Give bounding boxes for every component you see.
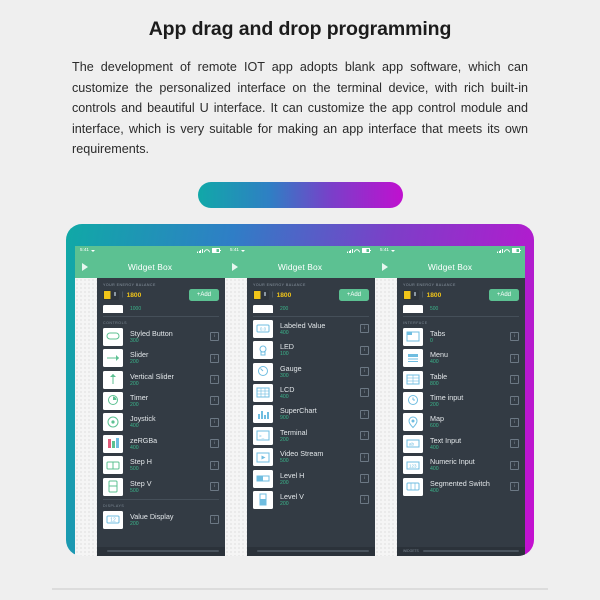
footer-divider: [52, 588, 548, 590]
widget-item-price: 200: [130, 521, 210, 528]
status-time: 5:41: [230, 248, 239, 253]
app-bar: Widget Box: [225, 256, 375, 278]
widget-list-item[interactable]: Level V200i: [253, 491, 369, 509]
widget-thumbnail: [103, 478, 123, 496]
widget-list-item[interactable]: SuperChart900i: [253, 405, 369, 423]
widget-info-icon[interactable]: i: [510, 354, 519, 363]
status-bar-left: 5:41: [80, 248, 95, 253]
energy-separator: |: [122, 292, 124, 298]
widget-list-partial-row[interactable]: 1000: [103, 305, 219, 313]
widget-item-name: Level H: [280, 471, 360, 480]
page-root: App drag and drop programming The develo…: [0, 0, 600, 600]
app-bar-title: Widget Box: [225, 262, 375, 272]
widget-list[interactable]: 500INTERFACETabs0iMenu400iTable800iTime …: [397, 305, 525, 556]
widget-list-item[interactable]: Tabs0i: [403, 328, 519, 346]
widget-thumbnail: [103, 349, 123, 367]
widget-thumbnail: 12: [103, 511, 123, 529]
widget-item-price: 300: [280, 373, 360, 380]
widget-thumb: [253, 305, 273, 313]
widget-info-icon[interactable]: i: [360, 453, 369, 462]
status-bar: 5:41: [75, 246, 225, 256]
widget-thumbnail: [103, 456, 123, 474]
energy-separator: |: [422, 292, 424, 298]
widget-item-text: Timer200: [130, 393, 210, 409]
widget-item-price: 200: [430, 402, 510, 409]
widget-item-text: Numeric Input400: [430, 457, 510, 473]
widget-item-name: SuperChart: [280, 406, 360, 415]
bottom-bar-track[interactable]: [423, 550, 519, 551]
widget-item-price: 100: [280, 351, 360, 358]
widget-list-item[interactable]: zeRGBa400i: [103, 435, 219, 453]
widget-item-name: Step H: [130, 457, 210, 466]
widget-box-panel: YOUR ENERGY BALANCE|1800+Add1000CONTROLS…: [97, 278, 225, 556]
widget-item-price: 200: [280, 480, 360, 487]
widget-thumbnail: [403, 328, 423, 346]
widget-list-item[interactable]: Timer200i: [103, 392, 219, 410]
widget-info-icon[interactable]: i: [360, 431, 369, 440]
widget-thumbnail: [103, 435, 123, 453]
widget-list-item[interactable]: Map600i: [403, 413, 519, 431]
widget-thumbnail: [403, 413, 423, 431]
app-bar-title: Widget Box: [375, 262, 525, 272]
widget-thumbnail: [253, 341, 273, 359]
list-divider: [103, 316, 219, 317]
add-energy-button[interactable]: +Add: [339, 289, 369, 301]
widget-box-bottom-bar: [247, 547, 375, 556]
status-bar-left: 5:41: [380, 248, 395, 253]
phone-screenshot-1: 5:41Widget BoxYOUR ENERGY BALANCE|1800+A…: [75, 246, 225, 556]
widget-list-item[interactable]: 123Numeric Input400i: [403, 456, 519, 474]
widget-item-name: Slider: [130, 350, 210, 359]
widget-item-name: Vertical Slider: [130, 372, 210, 381]
widget-thumbnail: [403, 392, 423, 410]
wifi-icon: [504, 249, 509, 253]
content-column: App drag and drop programming The develo…: [52, 0, 548, 588]
widget-thumbnail: 0.0: [253, 320, 273, 338]
widget-item-price: 800: [430, 381, 510, 388]
list-divider: [403, 316, 519, 317]
widget-thumb: [403, 305, 423, 313]
widget-item-name: Text Input: [430, 436, 510, 445]
phone-body: YOUR ENERGY BALANCE|1800+Add2000.0Labele…: [225, 278, 375, 556]
widget-item-name: Tabs: [430, 329, 510, 338]
widget-info-icon[interactable]: i: [210, 439, 219, 448]
widget-list-item[interactable]: Video Stream500i: [253, 448, 369, 466]
widget-item-name: Time input: [430, 393, 510, 402]
widget-item-price: 500: [130, 488, 210, 495]
widget-item-text: Level H200: [280, 471, 360, 487]
widget-item-text: zeRGBa400: [130, 436, 210, 452]
widget-item-text: Step V500: [130, 479, 210, 495]
energy-balance-row: |1800+Add: [253, 289, 369, 301]
widget-item-price: 400: [430, 359, 510, 366]
widget-info-icon[interactable]: i: [360, 474, 369, 483]
widget-item-text: Level V200: [280, 492, 360, 508]
widget-list-item[interactable]: 0.0Labeled Value400i: [253, 320, 369, 338]
widget-list-item[interactable]: Table800i: [403, 371, 519, 389]
widget-item-text: Segmented Switch400: [430, 479, 510, 495]
widget-item-name: Segmented Switch: [430, 479, 510, 488]
widget-item-price: 400: [430, 445, 510, 452]
widget-list-item[interactable]: Menu400i: [403, 349, 519, 367]
gradient-divider-pill: [198, 182, 403, 208]
wifi-icon: [354, 249, 359, 253]
widget-box-bottom-bar: [97, 547, 225, 556]
svg-text:>_: >_: [259, 434, 265, 439]
battery-icon: [512, 248, 521, 254]
widget-list-item[interactable]: Segmented Switch400i: [403, 478, 519, 496]
widget-thumbnail: [403, 349, 423, 367]
widget-info-icon[interactable]: i: [360, 324, 369, 333]
widget-list-item[interactable]: Step H500i: [103, 456, 219, 474]
phone-screenshot-3: 5:41Widget BoxYOUR ENERGY BALANCE|1800+A…: [375, 246, 525, 556]
widget-item-name: Terminal: [280, 428, 360, 437]
widget-list[interactable]: 1000CONTROLSStyled Button300iSlider200iV…: [97, 305, 225, 556]
widget-info-icon[interactable]: i: [360, 495, 369, 504]
widget-item-name: Gauge: [280, 364, 360, 373]
widget-list-item[interactable]: Styled Button300i: [103, 328, 219, 346]
widget-list-item[interactable]: Vertical Slider200i: [103, 371, 219, 389]
widget-item-text: Vertical Slider200: [130, 372, 210, 388]
widget-item-price: 200: [280, 501, 360, 508]
widget-item-text: Labeled Value400: [280, 321, 360, 337]
app-bar: Widget Box: [75, 256, 225, 278]
widget-item-price: 400: [280, 394, 360, 401]
widget-info-icon[interactable]: i: [360, 367, 369, 376]
widget-info-icon[interactable]: i: [210, 375, 219, 384]
widget-thumbnail: [103, 392, 123, 410]
widget-item-price: 500: [130, 466, 210, 473]
widget-list-partial-row[interactable]: 500: [403, 305, 519, 313]
widget-item-name: Table: [430, 372, 510, 381]
widget-item-price: 0: [430, 338, 510, 345]
widget-item-name: Numeric Input: [430, 457, 510, 466]
widget-thumbnail: >_: [253, 427, 273, 445]
widget-thumbnail: [103, 328, 123, 346]
play-icon[interactable]: [82, 263, 88, 271]
widget-item-price: 200: [130, 381, 210, 388]
widget-item-name: Labeled Value: [280, 321, 360, 330]
svg-text:12: 12: [110, 518, 116, 524]
widget-thumbnail: [103, 371, 123, 389]
widget-section-label: CONTROLS: [103, 321, 219, 325]
status-bar-left: 5:41: [230, 248, 245, 253]
widget-info-icon[interactable]: i: [510, 396, 519, 405]
widget-list-item[interactable]: Time input200i: [403, 392, 519, 410]
widget-item-name: LCD: [280, 385, 360, 394]
status-bar: 5:41: [225, 246, 375, 256]
widget-section-label: INTERFACE: [403, 321, 519, 325]
widget-list-partial-row[interactable]: 200: [253, 305, 369, 313]
widget-box-panel: YOUR ENERGY BALANCE|1800+Add500INTERFACE…: [397, 278, 525, 556]
widget-item-text: Table800: [430, 372, 510, 388]
widget-item-text: LED100: [280, 342, 360, 358]
widget-box-panel: YOUR ENERGY BALANCE|1800+Add2000.0Labele…: [247, 278, 375, 556]
svg-text:123: 123: [409, 463, 417, 468]
widget-item-text: SuperChart900: [280, 406, 360, 422]
energy-battery-icon: [253, 290, 269, 300]
widget-item-name: zeRGBa: [130, 436, 210, 445]
status-bar-right: [197, 248, 220, 254]
phone-body: YOUR ENERGY BALANCE|1800+Add1000CONTROLS…: [75, 278, 225, 556]
signal-icon: [347, 249, 352, 253]
energy-balance-value: 1800: [277, 292, 292, 299]
add-energy-button[interactable]: +Add: [189, 289, 219, 301]
page-title: App drag and drop programming: [52, 0, 548, 41]
status-bar-right: [497, 248, 520, 254]
widget-item-name: Joystick: [130, 414, 210, 423]
widget-list-item[interactable]: abText Input400i: [403, 435, 519, 453]
widget-item-name: Video Stream: [280, 449, 360, 458]
widget-item-text: Time input200: [430, 393, 510, 409]
widget-item-name: Menu: [430, 350, 510, 359]
widget-item-price: 400: [130, 445, 210, 452]
widget-item-price: 900: [280, 415, 360, 422]
widget-item-price: 400: [430, 488, 510, 495]
dropdown-caret-icon: [241, 250, 245, 252]
widget-item-name: Step V: [130, 479, 210, 488]
widget-price: 500: [430, 306, 438, 312]
widget-info-icon[interactable]: i: [510, 461, 519, 470]
widget-price: 1000: [130, 306, 141, 312]
widget-info-icon[interactable]: i: [210, 515, 219, 524]
widget-list-item[interactable]: Joystick400i: [103, 413, 219, 431]
widget-thumbnail: [403, 371, 423, 389]
status-bar-right: [347, 248, 370, 254]
widget-info-icon[interactable]: i: [510, 375, 519, 384]
widget-list-item[interactable]: LCD400i: [253, 384, 369, 402]
widget-thumbnail: [253, 470, 273, 488]
widget-item-price: 500: [280, 458, 360, 465]
widget-item-price: 300: [130, 338, 210, 345]
widget-list-item[interactable]: Level H200i: [253, 470, 369, 488]
widget-info-icon[interactable]: i: [360, 346, 369, 355]
status-bar: 5:41: [375, 246, 525, 256]
widget-item-price: 400: [430, 466, 510, 473]
widget-item-name: Value Display: [130, 512, 210, 521]
energy-battery-icon: [403, 290, 419, 300]
widget-info-icon[interactable]: i: [510, 482, 519, 491]
widget-item-text: Map600: [430, 414, 510, 430]
widget-list-item[interactable]: >_Terminal200i: [253, 427, 369, 445]
showcase-panel: 5:41Widget BoxYOUR ENERGY BALANCE|1800+A…: [66, 224, 534, 556]
status-time: 5:41: [80, 248, 89, 253]
phone-body: YOUR ENERGY BALANCE|1800+Add500INTERFACE…: [375, 278, 525, 556]
energy-balance-row: |1800+Add: [103, 289, 219, 301]
bottom-bar-track[interactable]: [257, 550, 369, 551]
widget-thumbnail: [253, 405, 273, 423]
wifi-icon: [204, 249, 209, 253]
energy-balance-value: 1800: [127, 292, 142, 299]
play-icon[interactable]: [382, 263, 388, 271]
widget-item-text: Slider200: [130, 350, 210, 366]
widget-list-item[interactable]: LED100i: [253, 341, 369, 359]
widget-thumbnail: [253, 384, 273, 402]
widget-item-text: Value Display200: [130, 512, 210, 528]
widget-info-icon[interactable]: i: [210, 418, 219, 427]
widget-info-icon[interactable]: i: [210, 332, 219, 341]
widget-item-text: Text Input400: [430, 436, 510, 452]
widget-list-item[interactable]: Gauge300i: [253, 363, 369, 381]
widget-thumbnail: [103, 413, 123, 431]
battery-icon: [212, 248, 221, 254]
widget-item-text: Video Stream500: [280, 449, 360, 465]
energy-balance: YOUR ENERGY BALANCE|1800+Add: [247, 278, 375, 306]
phone-screenshot-row: 5:41Widget BoxYOUR ENERGY BALANCE|1800+A…: [66, 246, 534, 556]
widget-info-icon[interactable]: i: [360, 410, 369, 419]
widget-info-icon[interactable]: i: [210, 354, 219, 363]
widget-item-price: 200: [130, 402, 210, 409]
widget-item-text: Terminal200: [280, 428, 360, 444]
widget-info-icon[interactable]: i: [510, 439, 519, 448]
app-bar-title: Widget Box: [75, 262, 225, 272]
widget-item-text: LCD400: [280, 385, 360, 401]
widget-thumb: [103, 305, 123, 313]
bottom-bar-label: WIDGETS: [403, 549, 419, 553]
play-icon[interactable]: [232, 263, 238, 271]
widget-info-icon[interactable]: i: [510, 332, 519, 341]
widget-item-price: 200: [280, 437, 360, 444]
signal-icon: [497, 249, 502, 253]
widget-box-bottom-bar: WIDGETS: [397, 547, 525, 556]
widget-item-price: 400: [280, 330, 360, 337]
energy-balance-label: YOUR ENERGY BALANCE: [253, 283, 369, 287]
svg-text:ab: ab: [409, 442, 415, 447]
widget-info-icon[interactable]: i: [360, 388, 369, 397]
list-divider: [253, 316, 369, 317]
widget-info-icon[interactable]: i: [210, 461, 219, 470]
widget-thumbnail: [253, 491, 273, 509]
energy-balance-label: YOUR ENERGY BALANCE: [103, 283, 219, 287]
intro-paragraph: The development of remote IOT app adopts…: [72, 57, 528, 160]
energy-balance-value: 1800: [427, 292, 442, 299]
widget-thumbnail: ab: [403, 435, 423, 453]
widget-item-text: Menu400: [430, 350, 510, 366]
energy-balance-row: |1800+Add: [403, 289, 519, 301]
widget-info-icon[interactable]: i: [210, 396, 219, 405]
dropdown-caret-icon: [91, 250, 95, 252]
energy-balance: YOUR ENERGY BALANCE|1800+Add: [397, 278, 525, 306]
widget-section-label: DISPLAYS: [103, 504, 219, 508]
phone-screenshot-2: 5:41Widget BoxYOUR ENERGY BALANCE|1800+A…: [225, 246, 375, 556]
svg-text:0.0: 0.0: [260, 327, 267, 332]
widget-thumbnail: [253, 363, 273, 381]
widget-item-name: Level V: [280, 492, 360, 501]
widget-item-text: Gauge300: [280, 364, 360, 380]
widget-thumbnail: [253, 448, 273, 466]
widget-item-name: Timer: [130, 393, 210, 402]
widget-list-item[interactable]: Step V500i: [103, 478, 219, 496]
energy-separator: |: [272, 292, 274, 298]
design-canvas-grid[interactable]: [375, 278, 397, 556]
status-time: 5:41: [380, 248, 389, 253]
widget-item-text: Step H500: [130, 457, 210, 473]
widget-thumbnail: [403, 478, 423, 496]
bottom-bar-track[interactable]: [107, 550, 219, 551]
battery-icon: [362, 248, 371, 254]
widget-item-name: Map: [430, 414, 510, 423]
design-canvas-grid[interactable]: [225, 278, 247, 556]
widget-list-item[interactable]: 12Value Display200i: [103, 511, 219, 529]
widget-item-price: 400: [130, 423, 210, 430]
widget-item-text: Joystick400: [130, 414, 210, 430]
design-canvas-grid[interactable]: [75, 278, 97, 556]
widget-item-price: 600: [430, 423, 510, 430]
widget-list-item[interactable]: Slider200i: [103, 349, 219, 367]
signal-icon: [197, 249, 202, 253]
list-divider: [103, 499, 219, 500]
widget-list[interactable]: 2000.0Labeled Value400iLED100iGauge300iL…: [247, 305, 375, 556]
widget-item-name: Styled Button: [130, 329, 210, 338]
add-energy-button[interactable]: +Add: [489, 289, 519, 301]
widget-info-icon[interactable]: i: [210, 482, 219, 491]
widget-info-icon[interactable]: i: [510, 418, 519, 427]
app-bar: Widget Box: [375, 256, 525, 278]
energy-balance: YOUR ENERGY BALANCE|1800+Add: [97, 278, 225, 306]
widget-thumbnail: 123: [403, 456, 423, 474]
widget-item-name: LED: [280, 342, 360, 351]
dropdown-caret-icon: [391, 250, 395, 252]
widget-item-text: Tabs0: [430, 329, 510, 345]
widget-item-price: 200: [130, 359, 210, 366]
energy-balance-label: YOUR ENERGY BALANCE: [403, 283, 519, 287]
widget-item-text: Styled Button300: [130, 329, 210, 345]
energy-battery-icon: [103, 290, 119, 300]
widget-price: 200: [280, 306, 288, 312]
